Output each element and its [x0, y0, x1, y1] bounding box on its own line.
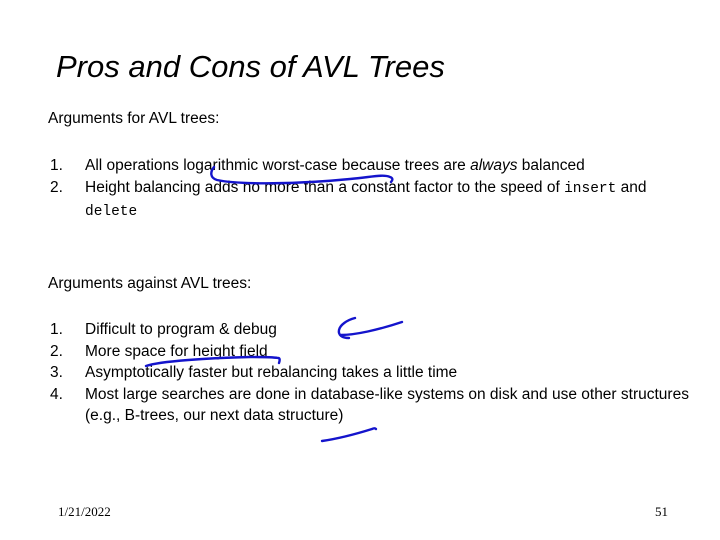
list-item-text: Asymptotically faster but rebalancing ta…: [85, 362, 700, 384]
pros-list: 1. All operations logarithmic worst-case…: [48, 155, 700, 224]
list-item: 3. Asymptotically faster but rebalancing…: [48, 362, 700, 384]
list-item-text: All operations logarithmic worst-case be…: [85, 155, 700, 177]
text-run-normal: All operations logarithmic worst-case be…: [85, 157, 470, 174]
list-marker: 4.: [50, 384, 76, 406]
text-run-normal: Height balancing adds no more than a con…: [85, 179, 564, 196]
text-run-italic: always: [470, 157, 517, 174]
list-item: 2. Height balancing adds no more than a …: [48, 177, 700, 224]
list-marker: 2.: [50, 341, 76, 363]
cons-list: 1. Difficult to program & debug 2. More …: [48, 319, 700, 427]
list-item: 1. Difficult to program & debug: [48, 319, 700, 341]
text-run-mono: delete: [85, 204, 137, 220]
list-item: 1. All operations logarithmic worst-case…: [48, 155, 700, 177]
footer-page-number: 51: [0, 504, 668, 520]
list-item-text: Height balancing adds no more than a con…: [85, 177, 700, 224]
list-item-text: Difficult to program & debug: [85, 319, 700, 341]
list-item: 4. Most large searches are done in datab…: [48, 384, 700, 427]
cons-section-heading: Arguments against AVL trees:: [48, 273, 251, 295]
list-item: 2. More space for height field: [48, 341, 700, 363]
underline-b-trees-ink: [322, 428, 376, 441]
page-title: Pros and Cons of AVL Trees: [56, 48, 445, 86]
list-item-text: Most large searches are done in database…: [85, 384, 700, 427]
list-marker: 2.: [50, 177, 76, 199]
list-marker: 1.: [50, 319, 76, 341]
list-marker: 3.: [50, 362, 76, 384]
text-run-normal: and: [616, 179, 646, 196]
pros-section-heading: Arguments for AVL trees:: [48, 108, 219, 130]
list-item-text: More space for height field: [85, 341, 700, 363]
list-marker: 1.: [50, 155, 76, 177]
slide-canvas: Pros and Cons of AVL Trees Arguments for…: [0, 0, 720, 540]
text-run-normal: balanced: [517, 157, 584, 174]
text-run-mono: insert: [564, 181, 616, 197]
